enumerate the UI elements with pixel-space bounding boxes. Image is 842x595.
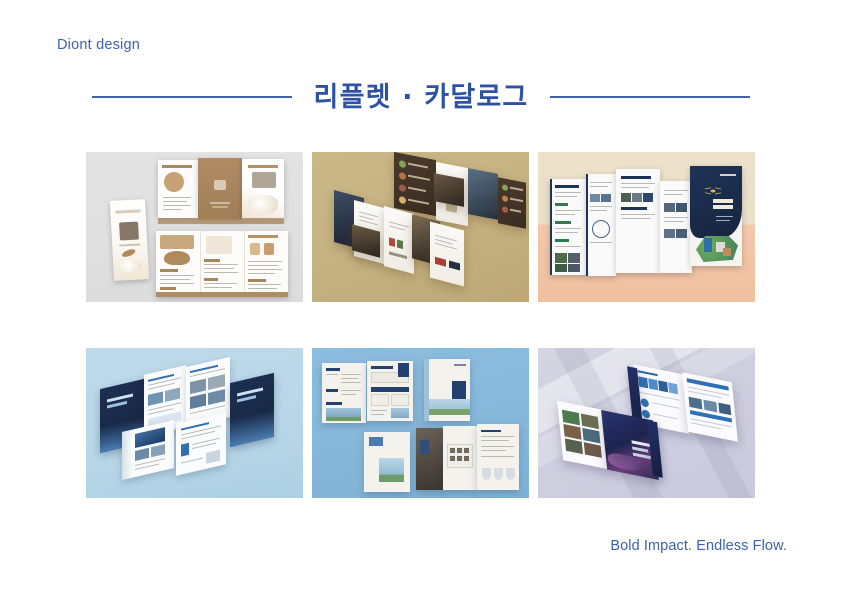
mockup-report-spread-left: [443, 426, 477, 490]
mockup-menu-light-lower-right: [430, 221, 464, 286]
mockup-drone-panel-3: [616, 169, 660, 273]
gallery-grid: [86, 152, 756, 498]
title-rule-right: [550, 96, 750, 98]
mockup-catalog-rolled-left: [122, 420, 174, 480]
title-rule-left: [92, 96, 292, 98]
page-title: 리플렛 · 카달로그: [314, 84, 529, 111]
gallery-item-restaurant-menu-trifold[interactable]: [312, 152, 529, 302]
gallery-item-food-trifold-brochure[interactable]: [86, 152, 303, 302]
mockup-menu-light-lower-mid: [384, 206, 414, 274]
mockup-menu-dark-upper-left: [394, 152, 436, 216]
mockup-menu-dark-upper-right: [498, 177, 526, 228]
mockup-trifold-top-right: [242, 159, 284, 219]
mockup-report-spread-right: [477, 424, 519, 490]
gallery-item-corporate-brochure-shadow[interactable]: [538, 348, 755, 498]
mockup-report-cover-2: [364, 432, 410, 492]
mockup-trifold-fold-base: [158, 218, 284, 224]
drone-icon: [704, 186, 722, 196]
mockup-standee: [110, 199, 149, 281]
gallery-item-uihai-drone-trifold[interactable]: [538, 152, 755, 302]
section-title-row: 리플렛 · 카달로그: [85, 78, 757, 116]
brand-label: Diont design: [57, 37, 140, 53]
footer-tagline: Bold Impact. Endless Flow.: [610, 538, 787, 554]
mockup-trifold-bottom: [156, 231, 288, 297]
mockup-report-accent-box: [398, 363, 409, 377]
mockup-catalog-rolled-right: [176, 412, 226, 476]
mockup-drone-panel-2: [586, 174, 616, 276]
mockup-menu-photo-upper: [434, 173, 464, 207]
mockup-report-page-1: [322, 363, 366, 423]
mockup-drone-panel-1: [550, 179, 586, 275]
mockup-drone-cover: [690, 166, 742, 266]
mockup-trifold-top-left: [158, 160, 198, 218]
mockup-report-spread-dark: [416, 428, 444, 490]
portfolio-page: Diont design 리플렛 · 카달로그: [0, 0, 842, 595]
mockup-catalog-cover-right: [230, 373, 274, 447]
gallery-item-architecture-report-catalog[interactable]: [312, 348, 529, 498]
mockup-corp-spread-right: [682, 372, 738, 442]
mockup-drone-panel-4: [660, 181, 692, 273]
gallery-item-navy-technology-catalog[interactable]: [86, 348, 303, 498]
mockup-bottom-strip: [156, 292, 288, 297]
mockup-trifold-top-middle: [198, 158, 242, 220]
mockup-report-cover-1: [424, 359, 470, 421]
mockup-menu-photo-upper-right: [468, 168, 498, 220]
